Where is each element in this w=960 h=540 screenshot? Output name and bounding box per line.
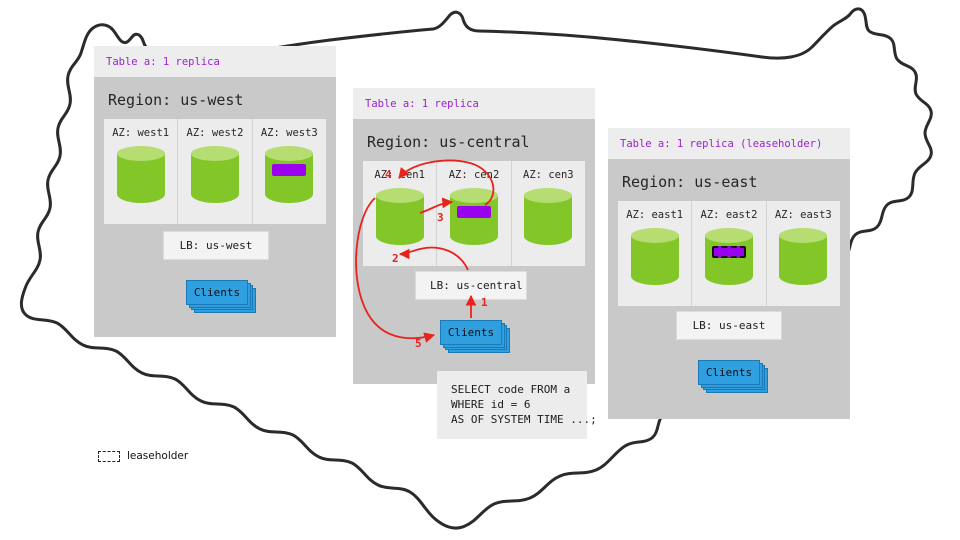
clients-us-central[interactable]: Clients	[440, 320, 502, 345]
cylinder-top	[450, 188, 498, 203]
az-cell-west1[interactable]: AZ: west1	[104, 119, 178, 224]
cylinder-top	[191, 146, 239, 161]
clients-label: Clients	[440, 320, 502, 345]
node-cylinder-cen2[interactable]	[450, 188, 498, 252]
flow-step-number-1: 1	[481, 296, 488, 309]
clients-us-west[interactable]: Clients	[186, 280, 248, 305]
dashed-rect-icon	[98, 451, 120, 462]
node-cylinder-west2[interactable]	[191, 146, 239, 210]
flow-step-number-5: 5	[415, 337, 422, 350]
flow-step-number-3: 3	[437, 211, 444, 224]
node-cylinder-cen1[interactable]	[376, 188, 424, 252]
region-replica-header: Table a: 1 replica	[94, 46, 336, 77]
cylinder-top	[376, 188, 424, 203]
az-cell-east1[interactable]: AZ: east1	[618, 201, 692, 306]
az-label: AZ: east1	[624, 209, 685, 221]
cylinder-top	[265, 146, 313, 161]
az-cell-east3[interactable]: AZ: east3	[767, 201, 840, 306]
az-cell-west3[interactable]: AZ: west3	[253, 119, 326, 224]
clients-us-east[interactable]: Clients	[698, 360, 760, 385]
node-cylinder-west1[interactable]	[117, 146, 165, 210]
region-replica-header: Table a: 1 replica	[353, 88, 595, 119]
node-cylinder-east3[interactable]	[779, 228, 827, 292]
az-label: AZ: cen2	[443, 169, 504, 181]
legend-leaseholder: leaseholder	[98, 450, 188, 462]
leaseholder-marker-east2	[712, 246, 746, 258]
az-cell-cen3[interactable]: AZ: cen3	[512, 161, 585, 266]
sql-query-box: SELECT code FROM a WHERE id = 6 AS OF SY…	[437, 371, 587, 439]
az-cell-cen2[interactable]: AZ: cen2	[437, 161, 511, 266]
az-cell-west2[interactable]: AZ: west2	[178, 119, 252, 224]
az-row: AZ: east1 AZ: east2 AZ: east3	[618, 201, 840, 306]
node-cylinder-cen3[interactable]	[524, 188, 572, 252]
cylinder-top	[524, 188, 572, 203]
region-replica-header: Table a: 1 replica (leaseholder)	[608, 128, 850, 159]
az-label: AZ: cen1	[369, 169, 430, 181]
az-label: AZ: west1	[110, 127, 171, 139]
az-label: AZ: east3	[773, 209, 834, 221]
legend-label: leaseholder	[127, 450, 188, 462]
cylinder-top	[705, 228, 753, 243]
cylinder-top	[631, 228, 679, 243]
load-balancer-us-east[interactable]: LB: us-east	[676, 311, 782, 340]
clients-label: Clients	[698, 360, 760, 385]
region-title: Region: us-central	[363, 127, 585, 161]
az-cell-cen1[interactable]: AZ: cen1	[363, 161, 437, 266]
replica-marker-cen2	[457, 206, 491, 218]
az-label: AZ: west2	[184, 127, 245, 139]
diagram-canvas: Table a: 1 replica Region: us-west AZ: w…	[0, 0, 960, 540]
az-cell-east2[interactable]: AZ: east2	[692, 201, 766, 306]
flow-step-number-2: 2	[392, 252, 399, 265]
region-title: Region: us-west	[104, 85, 326, 119]
cylinder-top	[779, 228, 827, 243]
az-label: AZ: west3	[259, 127, 320, 139]
load-balancer-us-west[interactable]: LB: us-west	[163, 231, 269, 260]
region-title: Region: us-east	[618, 167, 840, 201]
az-row: AZ: cen1 AZ: cen2 AZ: cen3	[363, 161, 585, 266]
load-balancer-us-central[interactable]: LB: us-central	[415, 271, 527, 300]
az-label: AZ: cen3	[518, 169, 579, 181]
az-row: AZ: west1 AZ: west2 AZ: west3	[104, 119, 326, 224]
node-cylinder-east1[interactable]	[631, 228, 679, 292]
node-cylinder-west3[interactable]	[265, 146, 313, 210]
replica-marker-west3	[272, 164, 306, 176]
cylinder-top	[117, 146, 165, 161]
flow-step-number-4: 4	[385, 168, 392, 181]
az-label: AZ: east2	[698, 209, 759, 221]
clients-label: Clients	[186, 280, 248, 305]
node-cylinder-east2[interactable]	[705, 228, 753, 292]
